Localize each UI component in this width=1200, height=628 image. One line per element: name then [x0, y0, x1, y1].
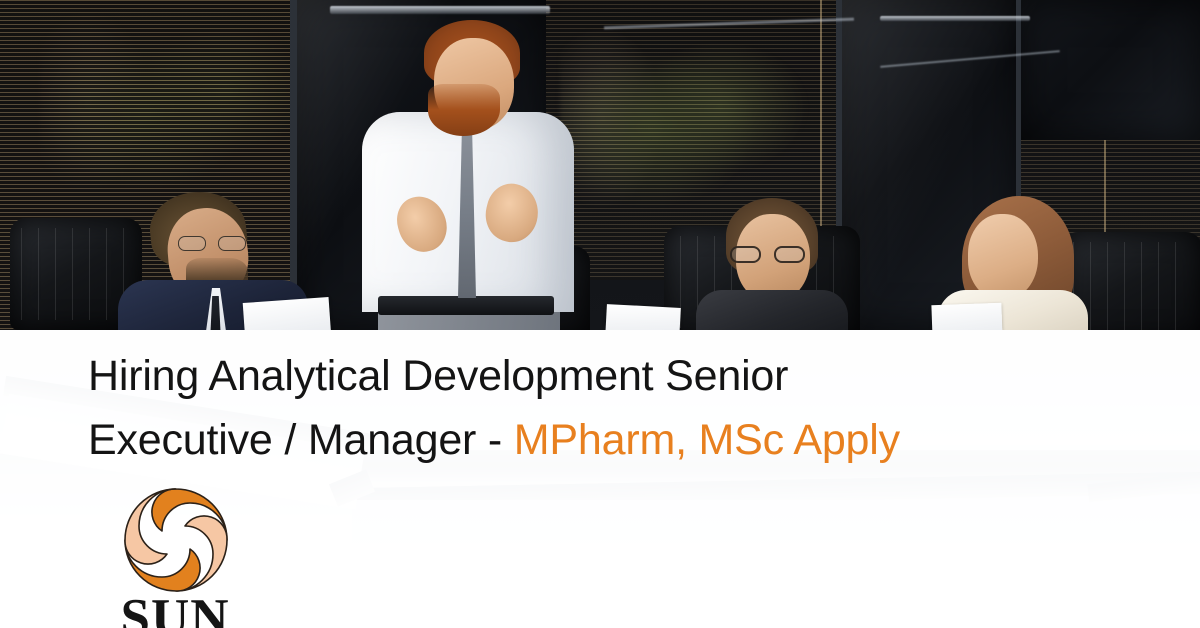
glass-wall-panel-3: [1020, 0, 1200, 140]
sun-pharma-wordmark: SUN: [112, 592, 238, 628]
job-vacancy-banner: Hiring Analytical Development SeniorExec…: [0, 0, 1200, 628]
head: [968, 214, 1038, 300]
eyeglass-lens-right: [774, 246, 805, 263]
belt: [378, 296, 554, 315]
eyeglass-lens-left: [730, 246, 761, 263]
chair-tufting: [1073, 242, 1191, 330]
window-mullion-1: [290, 0, 297, 330]
headline-accent-text: MPharm, MSc Apply: [514, 416, 900, 464]
eyeglass-lens-left: [178, 236, 206, 251]
sun-pharma-logo-mark: [120, 484, 232, 596]
eyeglasses: [178, 236, 250, 251]
sun-pharma-logo: SUN: [112, 484, 238, 628]
page-title: Hiring Analytical Development SeniorExec…: [88, 344, 1148, 472]
red-beard: [428, 84, 500, 136]
headline-line-1: Hiring Analytical Development Senior: [88, 352, 788, 400]
ceiling-light-strip-1: [330, 6, 550, 14]
ceiling-light-strip-2: [880, 16, 1030, 21]
eyeglasses: [730, 246, 808, 263]
eyeglass-lens-right: [218, 236, 246, 251]
chair-tufting: [21, 228, 132, 320]
headline-line-2-plain: Executive / Manager -: [88, 416, 514, 464]
